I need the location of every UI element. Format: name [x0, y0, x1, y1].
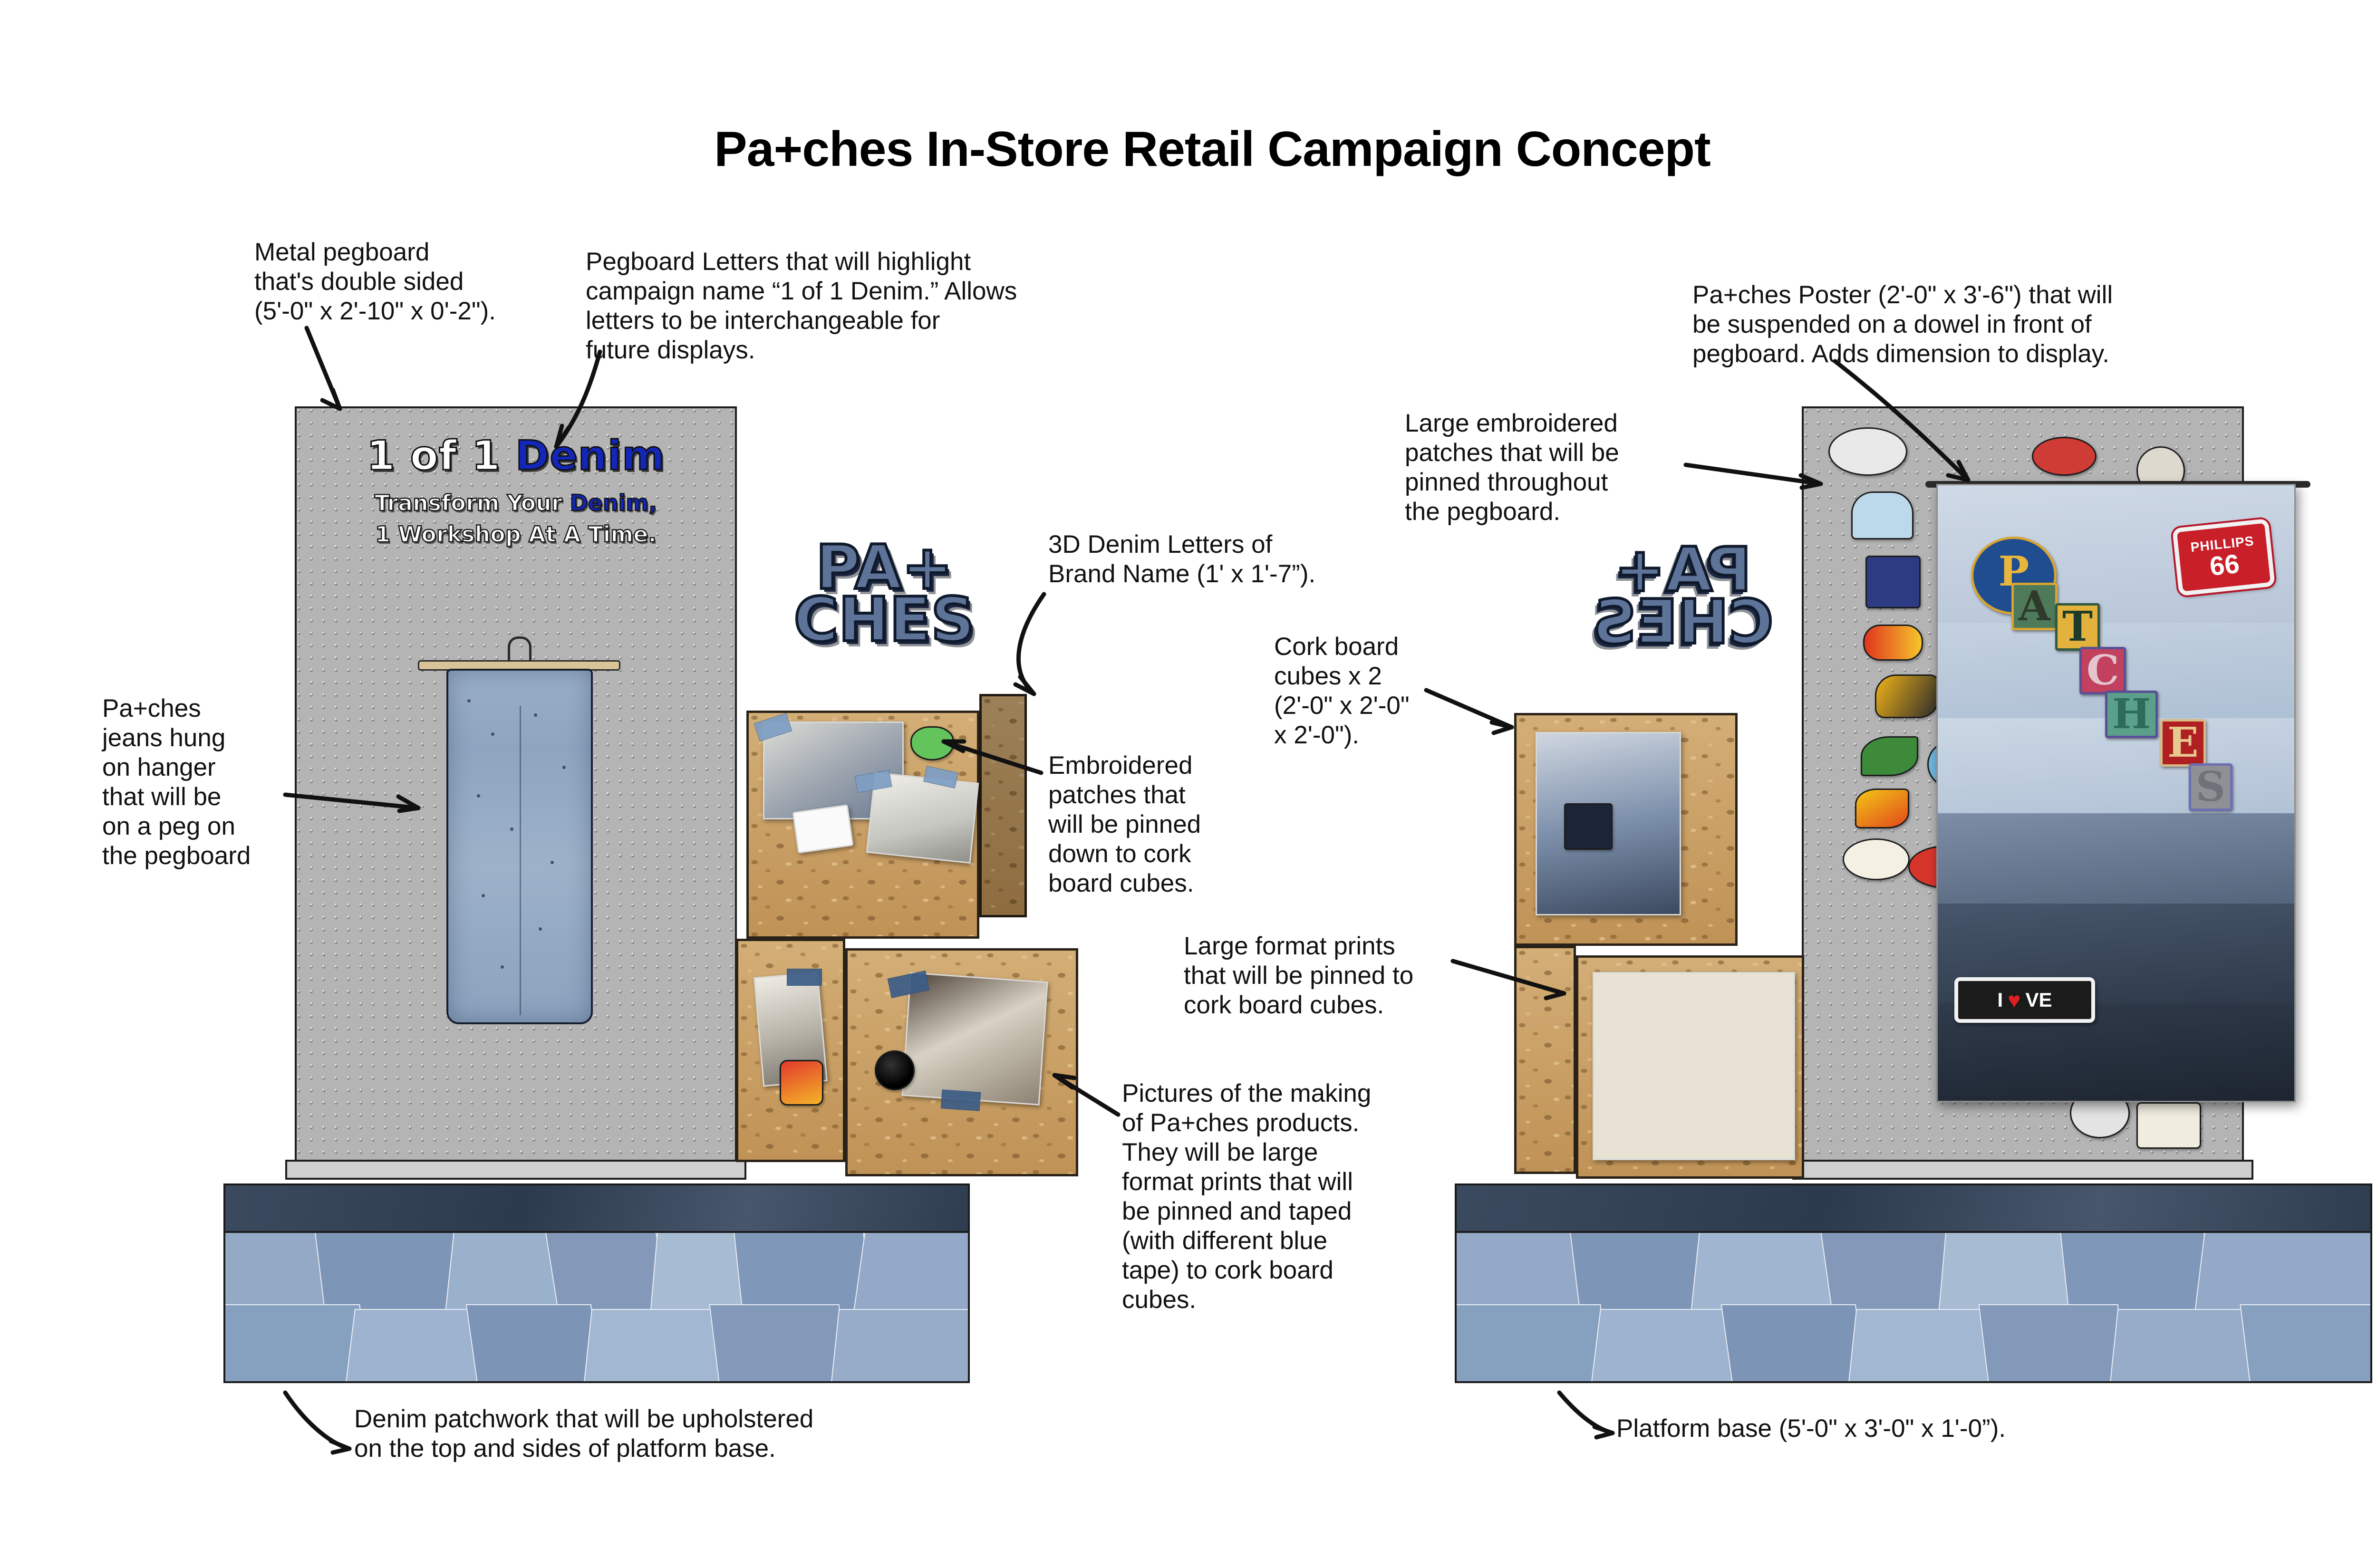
blue-tape-6	[941, 1089, 981, 1111]
leaf-patch-icon	[1861, 736, 1918, 776]
annotation-pegboard-letters: Pegboard Letters that will highlight cam…	[586, 247, 1113, 365]
poster-letter-h: H	[2105, 691, 2158, 738]
annotation-large-format-prints: Large format prints that will be pinned …	[1184, 932, 1459, 1020]
blue-tape-4	[787, 969, 822, 986]
right-pegboard-base-lip	[1792, 1160, 2253, 1180]
right-cork-cube-lower	[1514, 946, 1576, 1174]
poster-letter-c: C	[2079, 647, 2126, 694]
phillips-66-patch: PHILLIPS 66	[2172, 519, 2275, 596]
annotation-jeans-hanger: Pa+ches jeans hung on hanger that will b…	[102, 694, 292, 871]
flame-patch-icon	[1863, 625, 1923, 661]
annotation-patches-poster: Pa+ches Poster (2'-0" x 3'-6") that will…	[1692, 280, 2230, 369]
left-platform-top	[223, 1183, 970, 1233]
poster-letter-s: S	[2189, 763, 2232, 811]
annotation-cork-board-cubes: Cork board cubes x 2 (2'-0" x 2'-0" x 2'…	[1274, 632, 1450, 750]
envelope-patch-icon	[2136, 1102, 2201, 1149]
dice-flame-patch-icon	[780, 1060, 823, 1106]
annotation-platform-base: Platform base (5'-0" x 3'-0" x 1'-0”).	[1616, 1414, 2120, 1443]
left-pegboard-base-lip	[285, 1160, 746, 1180]
patches-poster: PHILLIPS 66 P A T C H E S I ♥ VE	[1936, 484, 2296, 1102]
love-patch-ve: VE	[2025, 989, 2052, 1011]
annotation-metal-pegboard: Metal pegboard that's double sided (5'-0…	[254, 238, 549, 326]
heart-icon: ♥	[2008, 989, 2020, 1011]
annotation-3d-denim-letters: 3D Denim Letters of Brand Name (1' x 1'-…	[1048, 530, 1372, 589]
lips-patch-2-icon	[2032, 437, 2097, 476]
tagline-1a: Transform Your	[375, 490, 570, 516]
fire-leaf-patch-icon	[1855, 789, 1909, 828]
page-title: Pa+ches In-Store Retail Campaign Concept	[0, 121, 2377, 178]
poster-letter-a: A	[2011, 583, 2058, 630]
poster-letter-e: E	[2160, 719, 2206, 767]
annotation-embroidered-patches-cork: Embroidered patches that will be pinned …	[1048, 751, 1272, 898]
pegboard-tagline-1: Transform Your Denim,	[297, 490, 735, 516]
left-pegboard: 1 of 1 Denim Transform Your Denim, 1 Wor…	[295, 406, 737, 1167]
hanger-hook-icon	[508, 636, 531, 664]
denim-letters-bottom: CHES	[761, 594, 1008, 646]
phillips-number: 66	[2208, 550, 2241, 579]
right-platform-front	[1455, 1231, 2372, 1383]
police-box-patch-icon	[1865, 556, 1921, 608]
playing-cards-patch	[792, 804, 853, 854]
star-patch-icon	[1564, 803, 1613, 850]
annotation-denim-patchwork: Denim patchwork that will be upholstered…	[354, 1404, 972, 1463]
left-cork-cube-upper-side	[979, 694, 1027, 917]
poster-letter-t: T	[2055, 603, 2100, 651]
right-3d-denim-letters: PA+ CHES	[1569, 544, 1797, 649]
left-3d-denim-letters: PA+ CHES	[761, 542, 1008, 646]
cat-patch-icon	[910, 726, 954, 760]
headline-blue-text: Denim	[515, 432, 665, 480]
i-love-patch: I ♥ VE	[1954, 977, 2095, 1023]
tagline-1b: Denim,	[570, 490, 657, 516]
cork-photo-making-2	[901, 972, 1048, 1106]
love-patch-i: I	[1997, 989, 2003, 1011]
wolf-patch-icon	[1828, 427, 1907, 476]
eight-ball-flame-patch-icon	[875, 1050, 915, 1090]
pegboard-tagline-2: 1 Workshop At A Time.	[297, 521, 735, 547]
eyeball-patch-icon	[1843, 838, 1910, 880]
right-platform-top	[1455, 1183, 2372, 1233]
pegboard-headline: 1 of 1 Denim	[297, 432, 735, 480]
right-cork-photo-patch-grid	[1593, 972, 1795, 1160]
left-platform-front	[223, 1231, 970, 1383]
dreamer-patch-icon	[1851, 491, 1913, 539]
tiger-patch-icon	[1875, 674, 1940, 718]
denim-letters-bottom-mirrored: CHES	[1569, 596, 1797, 649]
headline-white-text: 1 of 1	[367, 432, 501, 480]
annotation-pictures-making: Pictures of the making of Pa+ches produc…	[1122, 1079, 1455, 1315]
annotation-large-embroidered-patches: Large embroidered patches that will be p…	[1405, 409, 1681, 527]
pa-ches-jeans	[446, 669, 593, 1024]
